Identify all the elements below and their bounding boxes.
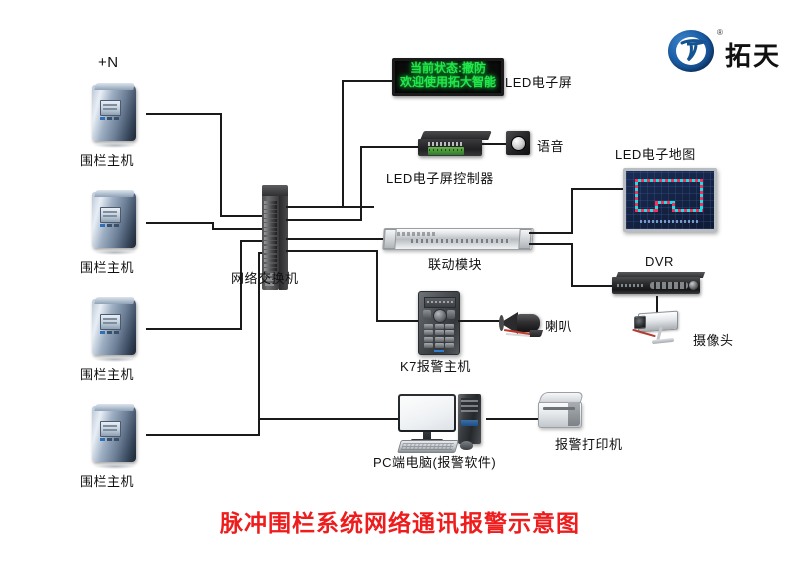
link-linkage-dvr-a (529, 243, 573, 245)
pc-workstation-label: PC端电脑(报警软件) (373, 452, 496, 471)
led-screen-controller-label: LED电子屏控制器 (386, 168, 494, 187)
led-display-board-label: LED电子屏 (505, 72, 572, 91)
link-switch-k7-c (376, 320, 420, 322)
camera-label: 摄像头 (693, 330, 734, 349)
link-switch-k7-b (376, 250, 378, 322)
camera-device (632, 310, 688, 350)
led-map-label: LED电子地图 (615, 144, 696, 163)
link-host4-a (146, 434, 260, 436)
pc-monitor (398, 394, 456, 432)
fence-host-3 (88, 297, 142, 359)
registered-mark: ® (717, 28, 723, 37)
horn-speaker (500, 308, 548, 338)
voice-module (506, 131, 530, 155)
link-switch-k7-a (286, 250, 378, 252)
linkage-module-label: 联动模块 (428, 254, 482, 273)
fence-host-4-label: 围栏主机 (80, 471, 134, 490)
link-k7-horn (458, 320, 502, 322)
link-linkage-map-b (571, 188, 573, 234)
diagram-title: 脉冲围栏系统网络通讯报警示意图 (0, 504, 800, 538)
plus-n-label: +N (98, 54, 119, 71)
horn-speaker-label: 喇叭 (545, 316, 572, 335)
link-linkage-map-a (529, 232, 573, 234)
link-switch-ledboard-c (342, 80, 394, 82)
led-screen-controller (418, 131, 490, 157)
link-switch-linkage (286, 238, 384, 240)
link-linkage-dvr-b (571, 243, 573, 287)
link-switch-pc-b (258, 418, 400, 420)
link-ledctrl-voice (482, 143, 508, 145)
link-linkage-map-c (571, 188, 625, 190)
logo-t-glyph-icon (679, 36, 707, 63)
voice-module-label: 语音 (537, 136, 564, 155)
link-switch-pc-a (258, 252, 260, 420)
link-host1-a (146, 113, 222, 115)
led-board-line1: 当前状态:撤防 (395, 61, 501, 75)
dvr-device (612, 272, 704, 296)
link-switch-ledctrl-b (360, 146, 362, 221)
link-host1-b (220, 113, 222, 215)
link-host1-c (220, 215, 264, 217)
diagram-canvas: ® 拓天 +N 围栏主机 围栏主机 围栏主机 围栏主机 (0, 0, 800, 579)
fence-host-4 (88, 404, 142, 466)
link-host2-c (212, 228, 264, 230)
link-switch-ledctrl-c (360, 146, 420, 148)
network-switch-label: 网络交换机 (231, 268, 299, 287)
fence-host-2-label: 围栏主机 (80, 257, 134, 276)
led-electronic-map (623, 168, 717, 232)
fence-host-3-label: 围栏主机 (80, 364, 134, 383)
pc-workstation (398, 394, 494, 450)
fence-host-2 (88, 190, 142, 252)
brand-logo: ® 拓天 (668, 28, 796, 76)
link-linkage-dvr-c (571, 285, 615, 287)
link-host2-a (146, 222, 214, 224)
fence-host-1-label: 围栏主机 (80, 150, 134, 169)
alarm-printer-label: 报警打印机 (555, 434, 623, 453)
k7-alarm-host (418, 291, 460, 355)
brand-name: 拓天 (725, 36, 781, 73)
alarm-printer (538, 392, 584, 428)
link-switch-ledctrl-a (286, 219, 362, 221)
k7-alarm-host-label: K7报警主机 (400, 356, 471, 375)
pc-mouse (460, 441, 473, 450)
pc-tower (458, 394, 481, 444)
link-host3-a (146, 328, 242, 330)
map-outline (635, 179, 703, 212)
led-display-board: 当前状态:撤防 欢迎使用拓大智能 (392, 58, 504, 96)
dvr-label: DVR (645, 254, 674, 269)
linkage-module (383, 228, 531, 250)
link-host3-c (240, 240, 264, 242)
link-switch-ledboard-b (342, 80, 344, 208)
fence-host-1 (88, 83, 142, 145)
led-board-line2: 欢迎使用拓大智能 (395, 75, 501, 89)
link-pc-printer (486, 418, 540, 420)
